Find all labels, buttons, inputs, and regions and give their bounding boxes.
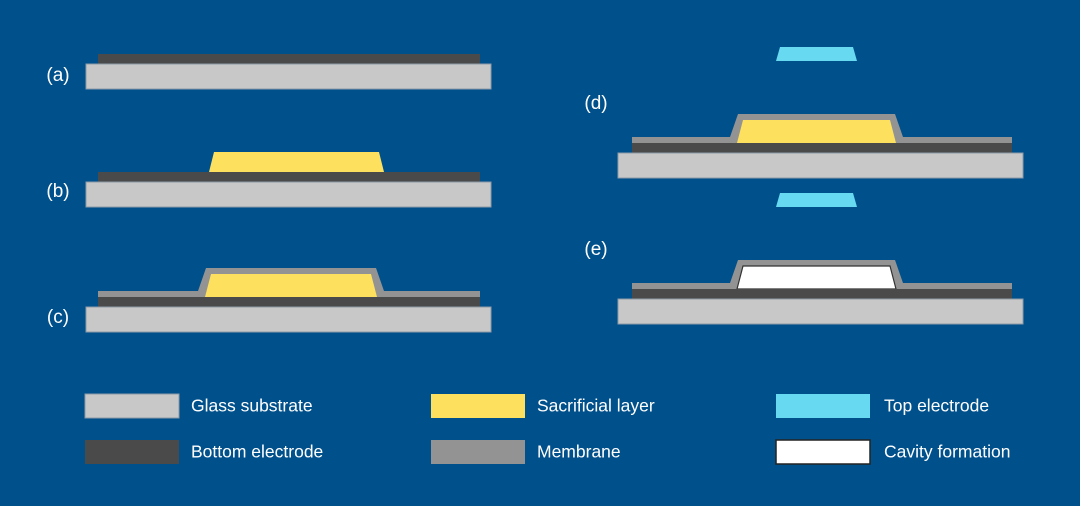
panel-e-cavity-formation [737,266,896,289]
panel-e-top-electrode [776,193,857,207]
legend-item-cavity-formation: Cavity formation [776,440,1010,464]
legend-label-top-electrode: Top electrode [884,396,989,416]
legend-label-sacrificial-layer: Sacrificial layer [537,396,655,416]
legend-item-membrane: Membrane [431,440,621,464]
panel-a: (a) [46,54,491,89]
panel-e-bottom-electrode [632,289,1012,299]
legend-column-2: Sacrificial layer Membrane [431,394,655,464]
panel-c-glass-substrate [86,307,491,332]
legend-column-1: Glass substrate Bottom electrode [85,394,323,464]
panel-c-label: (c) [47,307,69,328]
legend: Glass substrate Bottom electrode Sacrifi… [85,394,1010,464]
glass-substrate-swatch [85,394,179,418]
panel-c-bottom-electrode [98,297,480,307]
panel-d-glass-substrate [618,153,1023,178]
legend-label-bottom-electrode: Bottom electrode [191,442,323,462]
panel-c-sacrificial-layer [205,274,377,297]
legend-label-cavity-formation: Cavity formation [884,442,1010,462]
panel-e-label: (e) [584,239,607,260]
top-electrode-swatch [776,394,870,418]
legend-item-top-electrode: Top electrode [776,394,989,418]
figure-canvas: (a) (b) (c) [0,0,1080,506]
process-flow-diagram: (a) (b) (c) [0,0,1080,506]
legend-item-glass-substrate: Glass substrate [85,394,313,418]
panel-b-bottom-electrode [98,172,480,182]
panel-e-glass-substrate [618,299,1023,324]
legend-item-bottom-electrode: Bottom electrode [85,440,323,464]
cavity-formation-swatch [776,440,870,464]
panel-b-glass-substrate [86,182,491,207]
panel-e: (e) [584,193,1023,324]
legend-label-membrane: Membrane [537,442,621,462]
panel-a-bottom-electrode [98,54,480,64]
panel-d: (d) [584,47,1023,178]
panel-c: (c) [47,268,491,332]
legend-label-glass-substrate: Glass substrate [191,396,313,416]
panel-a-glass-substrate [86,64,491,89]
sacrificial-layer-swatch [431,394,525,418]
legend-item-sacrificial-layer: Sacrificial layer [431,394,655,418]
panel-d-bottom-electrode [632,143,1012,153]
panel-d-label: (d) [584,93,607,114]
panel-b: (b) [46,152,491,207]
bottom-electrode-swatch [85,440,179,464]
panel-a-label: (a) [46,65,69,86]
panel-d-sacrificial-layer [737,120,896,143]
legend-column-3: Top electrode Cavity formation [776,394,1010,464]
panel-d-top-electrode [776,47,857,61]
membrane-swatch [431,440,525,464]
panel-b-label: (b) [46,181,69,202]
